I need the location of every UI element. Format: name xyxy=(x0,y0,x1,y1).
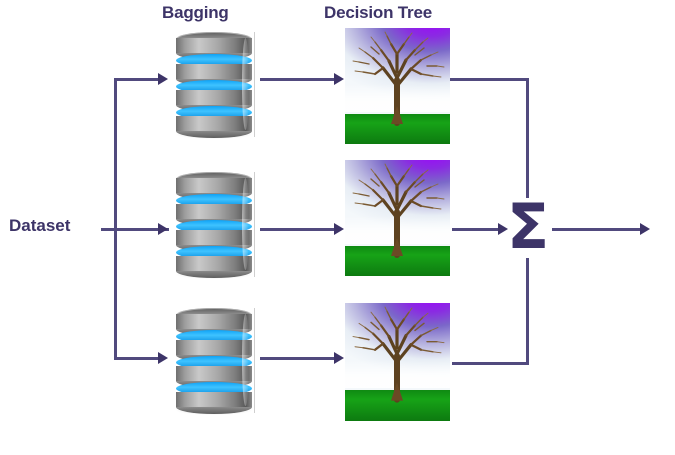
branch-arrowhead-2 xyxy=(158,223,168,235)
cylinder-body xyxy=(176,32,252,137)
column-title-decision-tree: Decision Tree xyxy=(324,3,432,23)
tree-to-sum-vline-1 xyxy=(526,78,529,198)
tree-to-sum-line-1 xyxy=(450,78,529,81)
bag-to-tree-arrowhead-1 xyxy=(334,73,344,85)
dataset-label: Dataset xyxy=(9,216,70,236)
cylinder-shadow xyxy=(175,130,253,139)
dataset-branch-vline xyxy=(114,78,117,360)
decision-tree-image-3 xyxy=(345,303,450,421)
tree-to-sum-line-3 xyxy=(452,362,529,365)
branch-line-1 xyxy=(114,78,160,81)
bagging-cylinder-3 xyxy=(172,308,256,413)
bag-to-tree-arrowhead-2 xyxy=(334,223,344,235)
branch-arrowhead-3 xyxy=(158,352,168,364)
cylinder-highlight xyxy=(242,314,249,406)
decision-tree-image-2 xyxy=(345,160,450,276)
branch-line-3 xyxy=(114,357,160,360)
branch-arrowhead-1 xyxy=(158,73,168,85)
bag-to-tree-line-1 xyxy=(260,78,336,81)
cylinder-shadow xyxy=(175,270,253,279)
final-output-arrowhead xyxy=(640,223,650,235)
tree-to-sum-vline-3 xyxy=(526,258,529,365)
bagging-cylinder-1 xyxy=(172,32,256,137)
diagram-canvas: Bagging Decision Tree Dataset xyxy=(0,0,675,455)
branch-line-2 xyxy=(114,228,160,231)
cylinder-divider xyxy=(254,308,255,413)
sum-aggregator-symbol: Σ xyxy=(506,196,550,258)
cylinder-divider xyxy=(254,32,255,137)
cylinder-divider xyxy=(254,172,255,277)
tree-to-sum-line-2 xyxy=(452,228,502,231)
bag-to-tree-line-3 xyxy=(260,357,336,360)
bagging-cylinder-2 xyxy=(172,172,256,277)
cylinder-highlight xyxy=(242,178,249,270)
decision-tree-image-1 xyxy=(345,28,450,144)
bag-to-tree-line-2 xyxy=(260,228,336,231)
tree-silhouette-icon xyxy=(345,160,450,276)
cylinder-shadow xyxy=(175,406,253,415)
final-output-line xyxy=(552,228,642,231)
bag-to-tree-arrowhead-3 xyxy=(334,352,344,364)
tree-silhouette-icon xyxy=(345,28,450,144)
cylinder-highlight xyxy=(242,38,249,130)
column-title-bagging: Bagging xyxy=(162,3,229,23)
cylinder-body xyxy=(176,308,252,413)
cylinder-body xyxy=(176,172,252,277)
tree-silhouette-icon xyxy=(345,303,450,421)
